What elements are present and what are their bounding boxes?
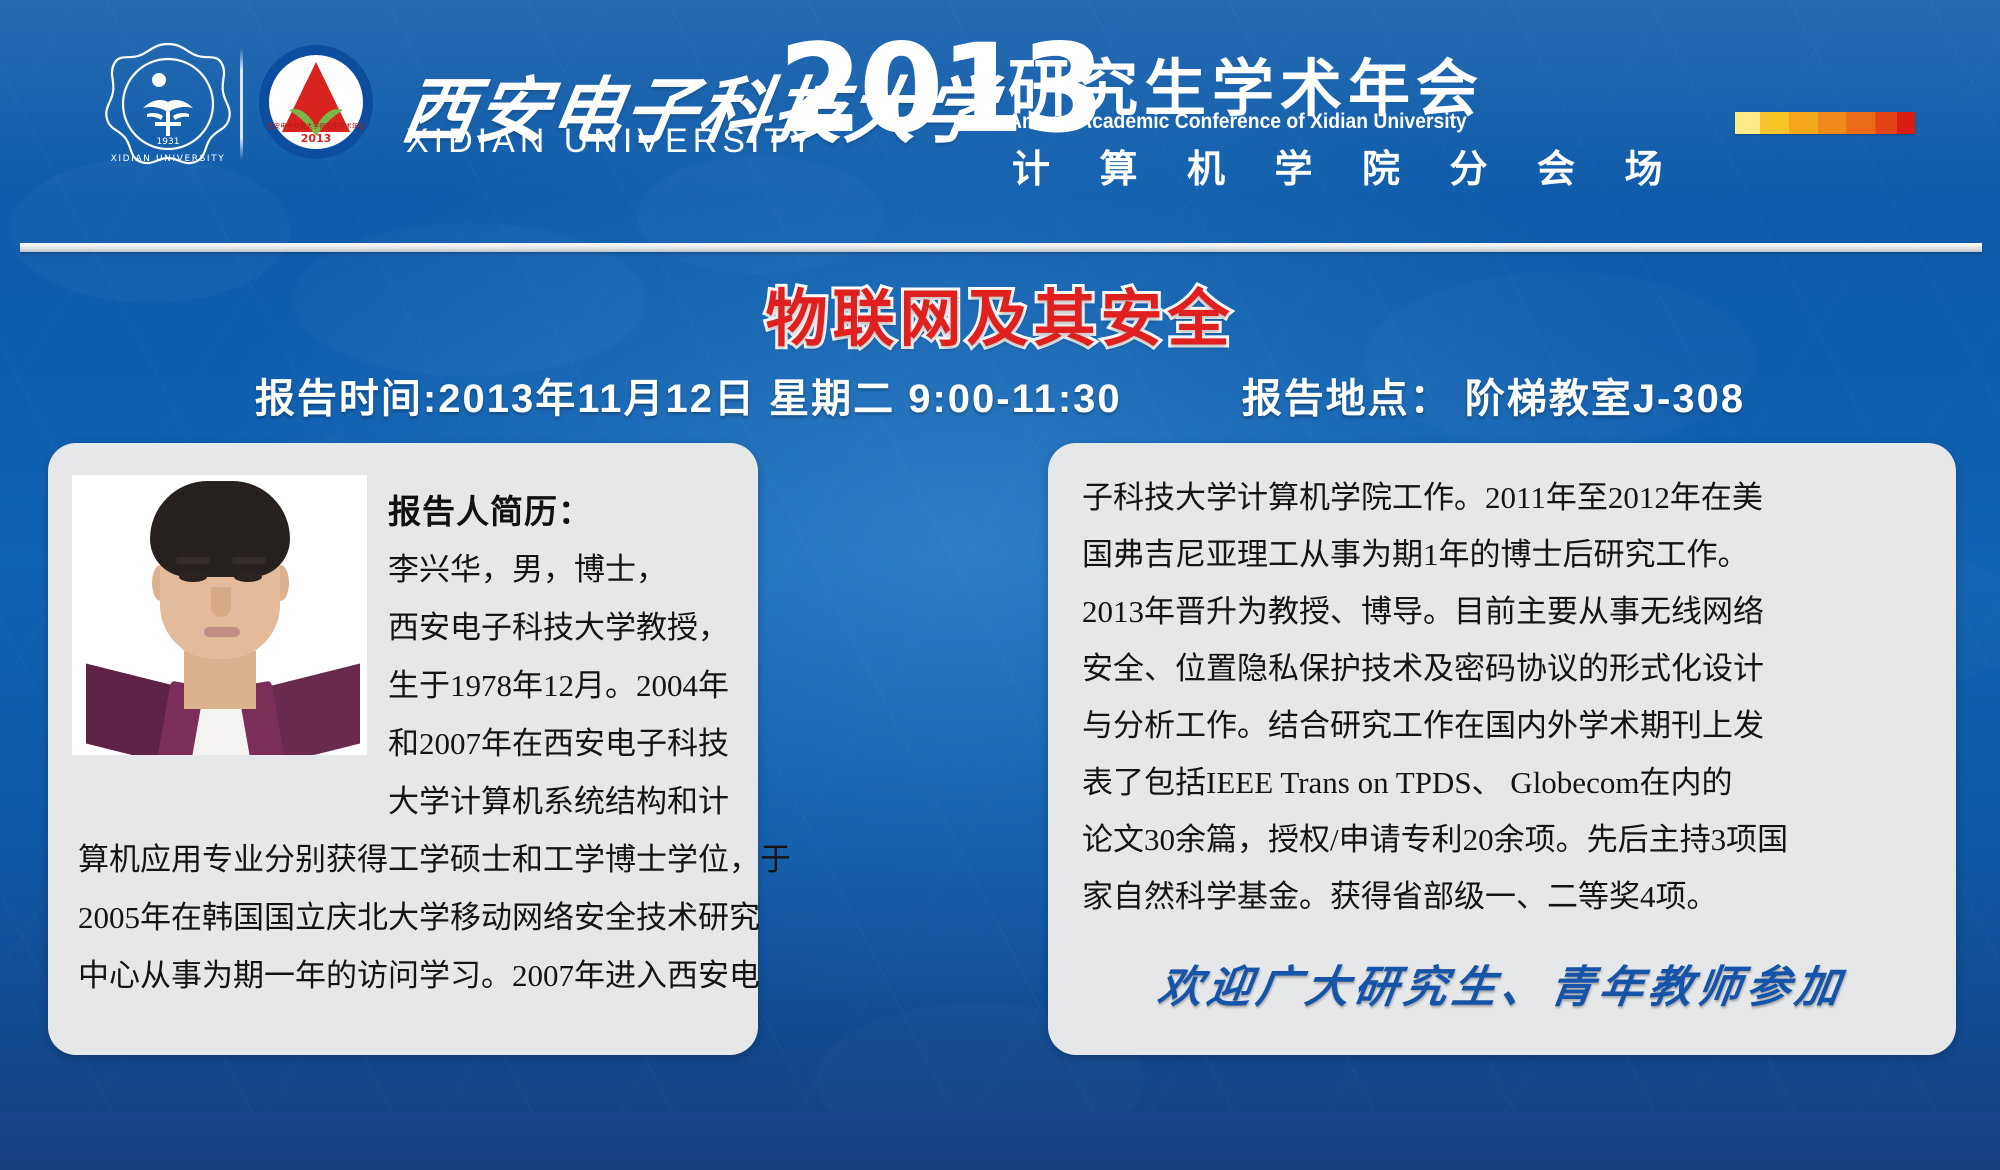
bio-line: 国弗吉尼亚理工从事为期1年的博士后研究工作。 — [1082, 526, 1932, 583]
talk-meta-row: 报告时间:2013年11月12日 星期二 9:00-11:30 报告地点： 阶梯… — [0, 366, 2000, 424]
talk-time: 报告时间:2013年11月12日 星期二 9:00-11:30 — [255, 366, 1122, 424]
speaker-bio-panel-left: 报告人简历： 李兴华，男，博士， 西安电子科技大学教授， 生于1978年12月。… — [48, 443, 758, 1055]
header-logo-divider — [240, 48, 243, 160]
conference-badge-year-text: 2013 — [301, 132, 332, 145]
header-divider-rule — [20, 243, 1982, 252]
decorative-color-bar — [1735, 112, 1915, 134]
talk-title: 物联网及其安全 — [0, 268, 2000, 358]
bio-line: 2005年在韩国国立庆北大学移动网络安全技术研究 — [72, 889, 744, 947]
footer-band — [0, 1112, 2000, 1170]
talk-location: 报告地点： 阶梯教室J-308 — [1242, 366, 1745, 424]
speaker-bio-panel-right: 子科技大学计算机学院工作。2011年至2012年在美 国弗吉尼亚理工从事为期1年… — [1048, 443, 1956, 1055]
bio-line: 安全、位置隐私保护技术及密码协议的形式化设计 — [1082, 640, 1932, 697]
bio-line: 与分析工作。结合研究工作在国内外学术期刊上发 — [1082, 697, 1932, 754]
logo-year-text: 1931 — [157, 137, 180, 147]
bio-line: 李兴华，男，博士， — [72, 541, 744, 599]
bio-line: 表了包括IEEE Trans on TPDS、 Globecom在内的 — [1082, 754, 1932, 811]
speaker-bio-left-text: 李兴华，男，博士， 西安电子科技大学教授， 生于1978年12月。2004年 和… — [72, 541, 744, 1005]
bio-line: 算机应用专业分别获得工学硕士和工学博士学位，于 — [72, 831, 744, 889]
speaker-bio-right-text: 子科技大学计算机学院工作。2011年至2012年在美 国弗吉尼亚理工从事为期1年… — [1082, 469, 1932, 925]
poster-root: 1931 XIDIAN UNIVERSITY Annual Academic C… — [0, 0, 2000, 1170]
xidian-university-logo-icon: 1931 XIDIAN UNIVERSITY — [103, 40, 233, 170]
speaker-bio-heading: 报告人简历： — [388, 485, 592, 533]
bio-line: 生于1978年12月。2004年 — [72, 657, 744, 715]
bio-line: 子科技大学计算机学院工作。2011年至2012年在美 — [1082, 469, 1932, 526]
bio-line: 家自然科学基金。获得省部级一、二等奖4项。 — [1082, 868, 1932, 925]
bio-line: 2013年晋升为教授、博导。目前主要从事无线网络 — [1082, 583, 1932, 640]
department-venue-cn: 计 算 机 学 院 分 会 场 — [1012, 138, 1683, 193]
bio-line: 和2007年在西安电子科技 — [72, 715, 744, 773]
university-name-en: XIDIAN UNIVERSITY — [406, 122, 818, 161]
bio-line: 西安电子科技大学教授， — [72, 599, 744, 657]
bio-line: 大学计算机系统结构和计 — [72, 773, 744, 831]
conference-name-en: Annual Academic Conference of Xidian Uni… — [1008, 110, 1467, 134]
logo-name-text: XIDIAN UNIVERSITY — [111, 154, 226, 164]
bio-line: 论文30余篇，授权/申请专利20余项。先后主持3项国 — [1082, 811, 1932, 868]
welcome-message: 欢迎广大研究生、青年教师参加 — [1044, 951, 1961, 1015]
conference-badge-cn-text: 西安电子科技大学研究生学术年会 — [267, 121, 365, 130]
poster-header: 1931 XIDIAN UNIVERSITY Annual Academic C… — [0, 0, 2000, 200]
conference-badge-icon: Annual Academic Conference of Xidian Uni… — [258, 44, 374, 160]
bio-line: 中心从事为期一年的访问学习。2007年进入西安电 — [72, 947, 744, 1005]
